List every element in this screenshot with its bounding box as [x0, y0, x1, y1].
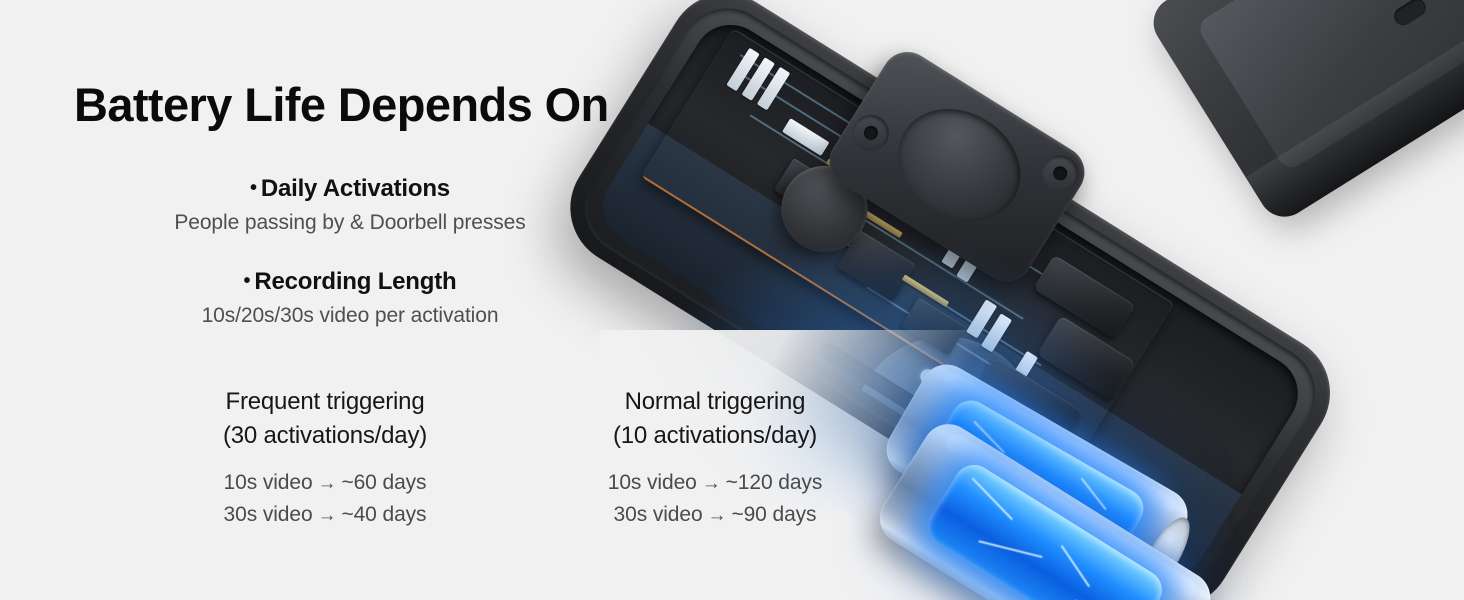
row-battery-life: ~90 days — [731, 503, 816, 526]
scenario-title-line2: (10 activations/day) — [430, 419, 1000, 453]
arrow-right-icon: → — [318, 473, 337, 494]
camera-lens — [878, 87, 1042, 243]
arrow-right-icon: → — [708, 505, 727, 526]
factor-subtitle: 10s/20s/30s video per activation — [0, 303, 700, 328]
row-recording-length: 30s video — [224, 503, 313, 526]
arrow-right-icon: → — [318, 505, 337, 526]
factor-block-daily-activations: •Daily Activations People passing by & D… — [0, 174, 700, 235]
back-cover-part — [1144, 0, 1464, 226]
text-panel: Battery Life Depends On •Daily Activatio… — [0, 0, 790, 600]
row-battery-life: ~60 days — [341, 471, 426, 494]
row-recording-length: 10s video — [224, 471, 313, 494]
factor-title-text: Daily Activations — [261, 175, 450, 202]
energy-bolt — [1061, 544, 1091, 587]
scenario-row: 10s video→~120 days — [430, 467, 1000, 499]
page-title: Battery Life Depends On — [74, 81, 609, 128]
scenario-title-line1: Normal triggering — [430, 385, 1000, 419]
camera-screw-boss — [1035, 149, 1085, 199]
row-recording-length: 10s video — [608, 471, 697, 494]
factor-block-recording-length: •Recording Length 10s/20s/30s video per … — [0, 267, 700, 328]
energy-bolt — [978, 541, 1043, 559]
factor-subtitle: People passing by & Doorbell presses — [0, 210, 700, 235]
row-recording-length: 30s video — [614, 503, 703, 526]
camera-screw-boss — [846, 108, 896, 158]
row-battery-life: ~120 days — [726, 471, 823, 494]
scenario-row: 30s video→~90 days — [430, 499, 1000, 531]
back-cover-slot — [1391, 0, 1429, 28]
infographic-canvas: Battery Life Depends On •Daily Activatio… — [0, 0, 1464, 600]
bullet-dot-icon: • — [250, 177, 257, 199]
arrow-right-icon: → — [702, 473, 721, 494]
row-battery-life: ~40 days — [341, 503, 426, 526]
factor-title-text: Recording Length — [254, 268, 456, 295]
factor-title: •Recording Length — [0, 267, 700, 296]
scenario-rows: 10s video→~120 days 30s video→~90 days — [430, 467, 1000, 530]
scenario-normal-triggering: Normal triggering (10 activations/day) 1… — [430, 385, 1000, 530]
factor-title: •Daily Activations — [0, 174, 700, 203]
bullet-dot-icon: • — [244, 270, 251, 292]
